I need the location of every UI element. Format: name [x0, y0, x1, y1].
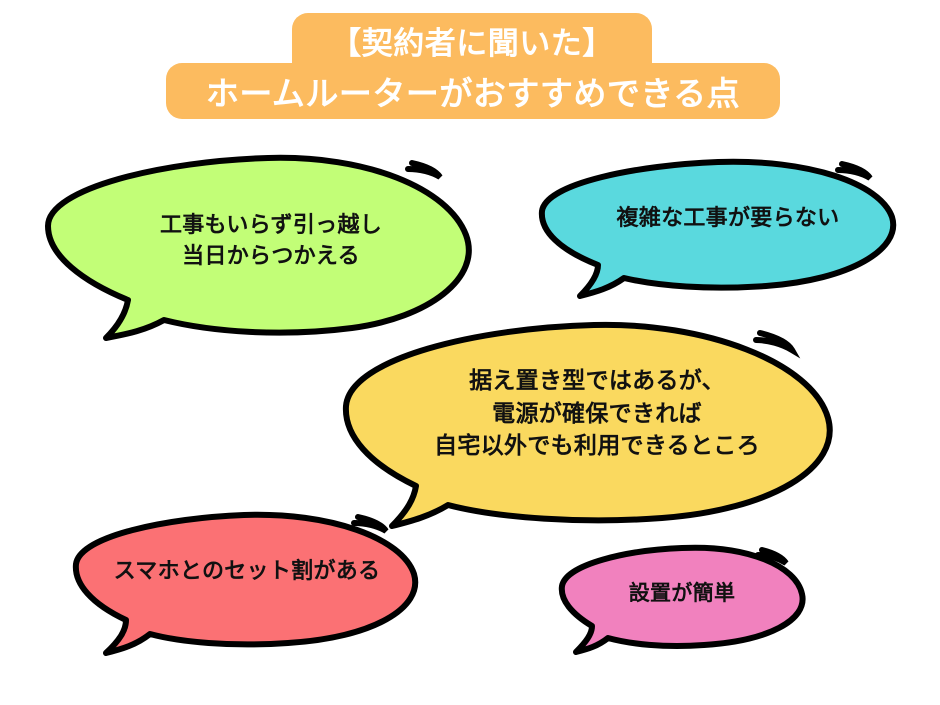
- speech-bubble-green[interactable]: 工事もいらず引っ越し 当日からつかえる: [36, 152, 486, 342]
- speech-bubble-yellow[interactable]: 据え置き型ではあるが、 電源が確保できれば 自宅以外でも利用できるところ: [332, 318, 848, 533]
- title-line-1: 【契約者に聞いた】: [292, 13, 652, 69]
- title-banner: 【契約者に聞いた】 ホームルーターがおすすめできる点: [0, 0, 940, 140]
- bubble-line: 当日からつかえる: [182, 240, 360, 271]
- bubble-pen-nub: [408, 163, 440, 177]
- bubble-line: 自宅以外でも利用できるところ: [434, 429, 760, 462]
- bubble-line: 据え置き型ではあるが、: [469, 364, 725, 397]
- title-line-2: ホームルーターがおすすめできる点: [166, 63, 780, 119]
- speech-bubble-cyan[interactable]: 複雑な工事が要らない: [528, 155, 908, 305]
- speech-bubble-green-text: 工事もいらず引っ越し 当日からつかえる: [106, 190, 436, 290]
- bubble-line: 設置が簡単: [629, 579, 736, 609]
- speech-bubble-red[interactable]: スマホとのセット割がある: [62, 508, 430, 660]
- speech-bubble-pink-text: 設置が簡単: [582, 564, 782, 624]
- slide-canvas: 【契約者に聞いた】 ホームルーターがおすすめできる点 工事もいらず引っ越し 当日…: [0, 0, 940, 705]
- bubble-line: 工事もいらず引っ越し: [160, 209, 382, 240]
- bubble-pen-nub: [756, 333, 792, 350]
- bubble-line: 電源が確保できれば: [492, 397, 702, 430]
- speech-bubble-yellow-text: 据え置き型ではあるが、 電源が確保できれば 自宅以外でも利用できるところ: [402, 353, 792, 473]
- speech-bubble-pink[interactable]: 設置が簡単: [552, 542, 814, 658]
- speech-bubble-cyan-text: 複雑な工事が要らない: [578, 183, 878, 253]
- bubble-line: 複雑な工事が要らない: [616, 202, 839, 233]
- speech-bubble-red-text: スマホとのセット割がある: [97, 538, 397, 604]
- bubble-line: スマホとのセット割がある: [114, 555, 381, 586]
